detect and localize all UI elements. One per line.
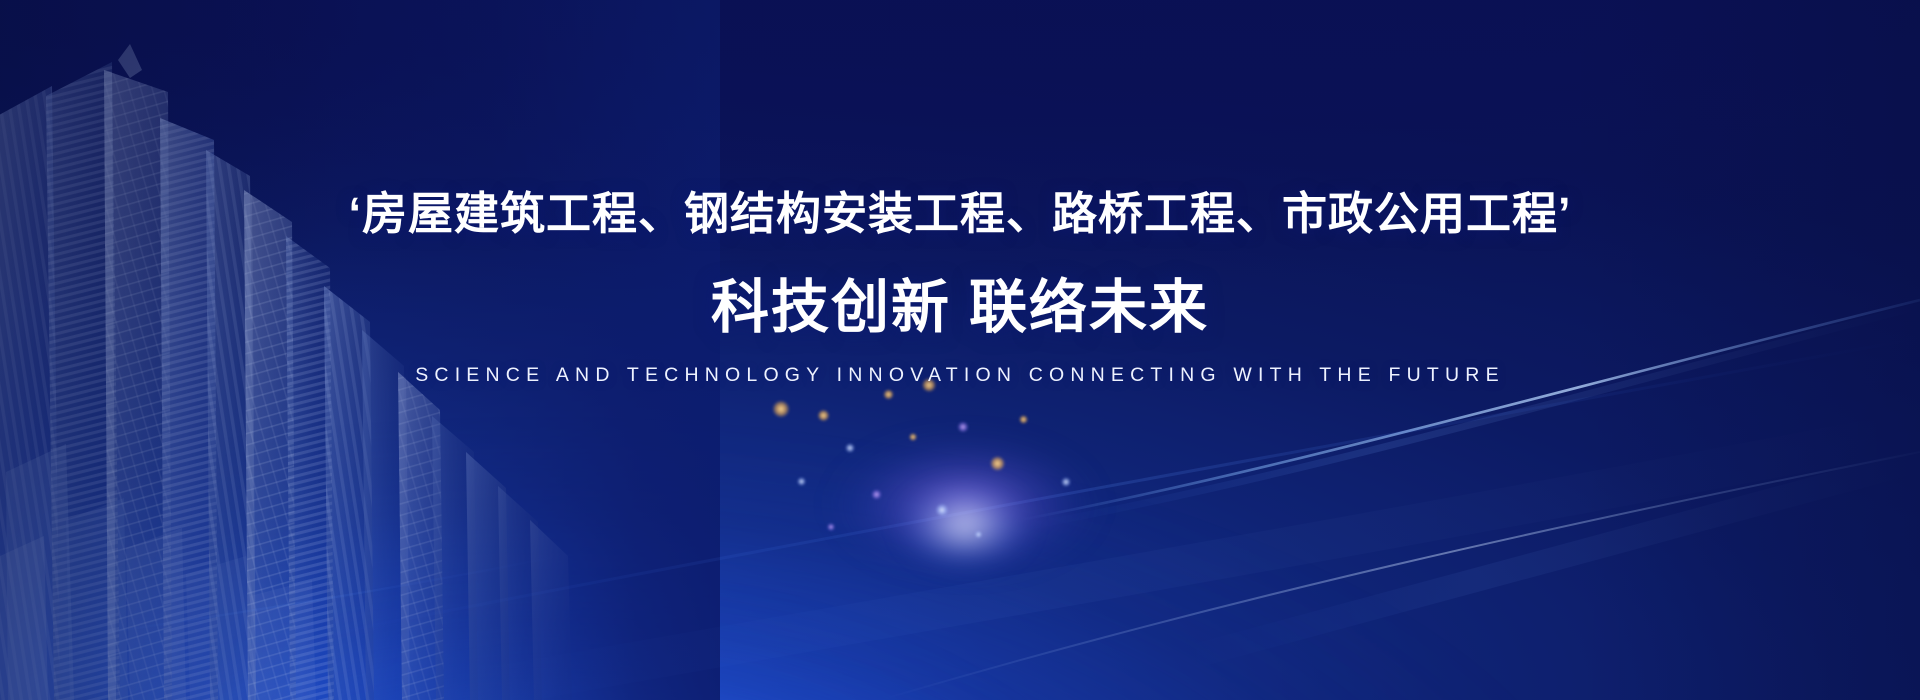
subtitle-english: SCIENCE AND TECHNOLOGY INNOVATION CONNEC…: [0, 364, 1920, 387]
headline-quote: ‘房屋建筑工程、钢结构安装工程、路桥工程、市政公用工程’: [0, 186, 1920, 243]
page-title: 科技创新 联络未来: [0, 273, 1920, 343]
hero-banner: ‘房屋建筑工程、钢结构安装工程、路桥工程、市政公用工程’ 科技创新 联络未来 S…: [0, 0, 1920, 700]
hero-text-block: ‘房屋建筑工程、钢结构安装工程、路桥工程、市政公用工程’ 科技创新 联络未来 S…: [0, 186, 1920, 387]
